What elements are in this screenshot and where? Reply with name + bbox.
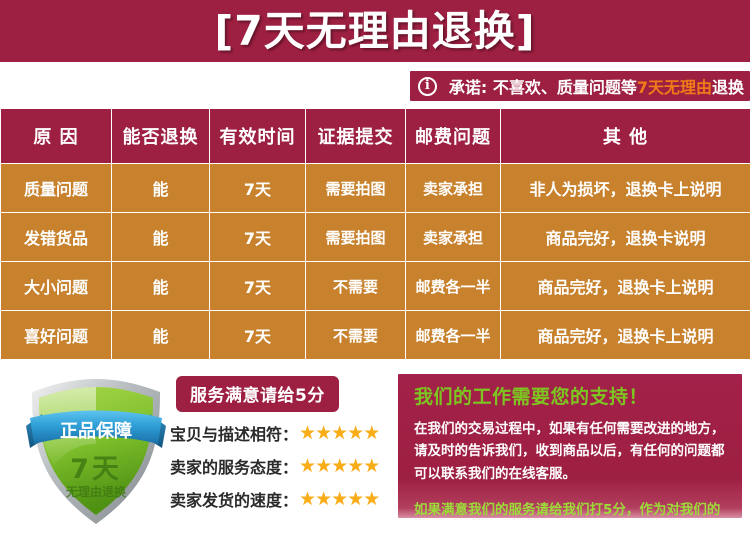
shield-icon: 正品保障 7天 无理由退换 <box>22 374 170 529</box>
rating-label: 宝贝与描述相符： <box>170 421 298 445</box>
star-icon: ★ <box>299 488 315 510</box>
page-title: [7天无理由退换] <box>214 11 535 52</box>
cell-returnable: 能 <box>112 262 210 311</box>
cell-validtime: 7天 <box>210 311 306 360</box>
star-icon: ★ <box>347 488 363 510</box>
info-circle-icon: i <box>418 77 437 96</box>
star-icon: ★ <box>315 422 331 444</box>
promise-banner: i 承诺: 不喜欢、质量问题等7天无理由退换 <box>410 71 750 101</box>
rating-badge: 服务满意请给5分 <box>176 376 339 412</box>
page-root: [7天无理由退换] i 承诺: 不喜欢、质量问题等7天无理由退换 原 因 能否退… <box>0 0 750 539</box>
star-icon: ★ <box>331 422 347 444</box>
rating-label: 卖家的服务态度： <box>170 454 298 478</box>
ratings-block: 服务满意请给5分 宝贝与描述相符： ★★★★★ 卖家的服务态度： ★★★★★ 卖… <box>170 376 390 511</box>
cell-shipping: 卖家承担 <box>406 164 501 213</box>
rating-label: 卖家发货的速度： <box>170 487 298 511</box>
support-panel: 我们的工作需要您的支持！ 在我们的交易过程中，如果有任何需要改进的地方，请及时的… <box>398 374 742 518</box>
column-header-evidence: 证据提交 <box>306 109 406 164</box>
star-icon: ★ <box>331 488 347 510</box>
return-policy-table: 原 因 能否退换 有效时间 证据提交 邮费问题 其 他 质量问题 能 7天 需要… <box>0 108 750 360</box>
column-header-validtime: 有效时间 <box>210 109 306 164</box>
cell-validtime: 7天 <box>210 164 306 213</box>
cell-evidence: 不需要 <box>306 262 406 311</box>
promise-highlight: 7天无理由 <box>637 78 712 97</box>
cell-validtime: 7天 <box>210 262 306 311</box>
cell-validtime: 7天 <box>210 213 306 262</box>
star-icon: ★ <box>299 455 315 477</box>
cell-returnable: 能 <box>112 164 210 213</box>
cell-reason: 大小问题 <box>1 262 112 311</box>
table-header-row: 原 因 能否退换 有效时间 证据提交 邮费问题 其 他 <box>1 109 750 164</box>
cell-shipping: 邮费各一半 <box>406 262 501 311</box>
page-header: [7天无理由退换] <box>0 0 750 62</box>
cell-reason: 质量问题 <box>1 164 112 213</box>
table-row: 质量问题 能 7天 需要拍图 卖家承担 非人为损坏，退换卡上说明 <box>1 164 750 213</box>
cell-shipping: 卖家承担 <box>406 213 501 262</box>
table-row: 大小问题 能 7天 不需要 邮费各一半 商品完好，退换卡上说明 <box>1 262 750 311</box>
star-icon: ★ <box>331 455 347 477</box>
promise-prefix: 承诺: 不喜欢、质量问题等 <box>449 78 637 97</box>
support-footer: 如果满意我们的服务请给我们打5分，作为对我们的鼓励！ <box>414 498 728 518</box>
cell-other: 商品完好，退换卡上说明 <box>501 311 750 360</box>
cell-evidence: 不需要 <box>306 311 406 360</box>
star-icon: ★ <box>363 488 379 510</box>
star-icon: ★ <box>315 455 331 477</box>
rating-row-shipping: 卖家发货的速度： ★★★★★ <box>170 487 390 511</box>
cell-other: 商品完好，退换卡上说明 <box>501 262 750 311</box>
column-header-returnable: 能否退换 <box>112 109 210 164</box>
guarantee-shield-badge: 正品保障 7天 无理由退换 <box>22 374 170 529</box>
support-body: 在我们的交易过程中，如果有任何需要改进的地方，请及时的告诉我们，收到商品以后，有… <box>414 418 728 486</box>
shield-big-text: 7天 <box>70 454 122 485</box>
cell-shipping: 邮费各一半 <box>406 311 501 360</box>
star-icon: ★ <box>347 455 363 477</box>
star-icon: ★ <box>299 422 315 444</box>
rating-stars: ★★★★★ <box>299 457 379 476</box>
info-icon-glyph: i <box>425 79 430 92</box>
rating-row-service: 卖家的服务态度： ★★★★★ <box>170 454 390 478</box>
table-row: 发错货品 能 7天 需要拍图 卖家承担 商品完好，退换卡说明 <box>1 213 750 262</box>
rating-row-description: 宝贝与描述相符： ★★★★★ <box>170 421 390 445</box>
cell-returnable: 能 <box>112 311 210 360</box>
cell-other: 商品完好，退换卡说明 <box>501 213 750 262</box>
cell-evidence: 需要拍图 <box>306 213 406 262</box>
cell-reason: 发错货品 <box>1 213 112 262</box>
bottom-section: 正品保障 7天 无理由退换 服务满意请给5分 宝贝与描述相符： ★★★★★ 卖家… <box>0 366 750 539</box>
star-icon: ★ <box>347 422 363 444</box>
table-header: 原 因 能否退换 有效时间 证据提交 邮费问题 其 他 <box>1 109 750 164</box>
support-title: 我们的工作需要您的支持！ <box>414 386 728 409</box>
column-header-other: 其 他 <box>501 109 750 164</box>
column-header-shipping: 邮费问题 <box>406 109 501 164</box>
star-icon: ★ <box>363 422 379 444</box>
cell-evidence: 需要拍图 <box>306 164 406 213</box>
column-header-reason: 原 因 <box>1 109 112 164</box>
rating-stars: ★★★★★ <box>299 424 379 443</box>
star-icon: ★ <box>315 488 331 510</box>
cell-other: 非人为损坏，退换卡上说明 <box>501 164 750 213</box>
table-row: 喜好问题 能 7天 不需要 邮费各一半 商品完好，退换卡上说明 <box>1 311 750 360</box>
star-icon: ★ <box>363 455 379 477</box>
promise-text: 承诺: 不喜欢、质量问题等7天无理由退换 <box>449 74 744 98</box>
promise-banner-area: i 承诺: 不喜欢、质量问题等7天无理由退换 <box>0 62 750 108</box>
rating-stars: ★★★★★ <box>299 490 379 509</box>
cell-reason: 喜好问题 <box>1 311 112 360</box>
shield-small-text: 无理由退换 <box>65 484 127 499</box>
cell-returnable: 能 <box>112 213 210 262</box>
table-body: 质量问题 能 7天 需要拍图 卖家承担 非人为损坏，退换卡上说明 发错货品 能 … <box>1 164 750 360</box>
shield-ribbon-text: 正品保障 <box>60 420 132 442</box>
promise-suffix: 退换 <box>712 78 744 97</box>
